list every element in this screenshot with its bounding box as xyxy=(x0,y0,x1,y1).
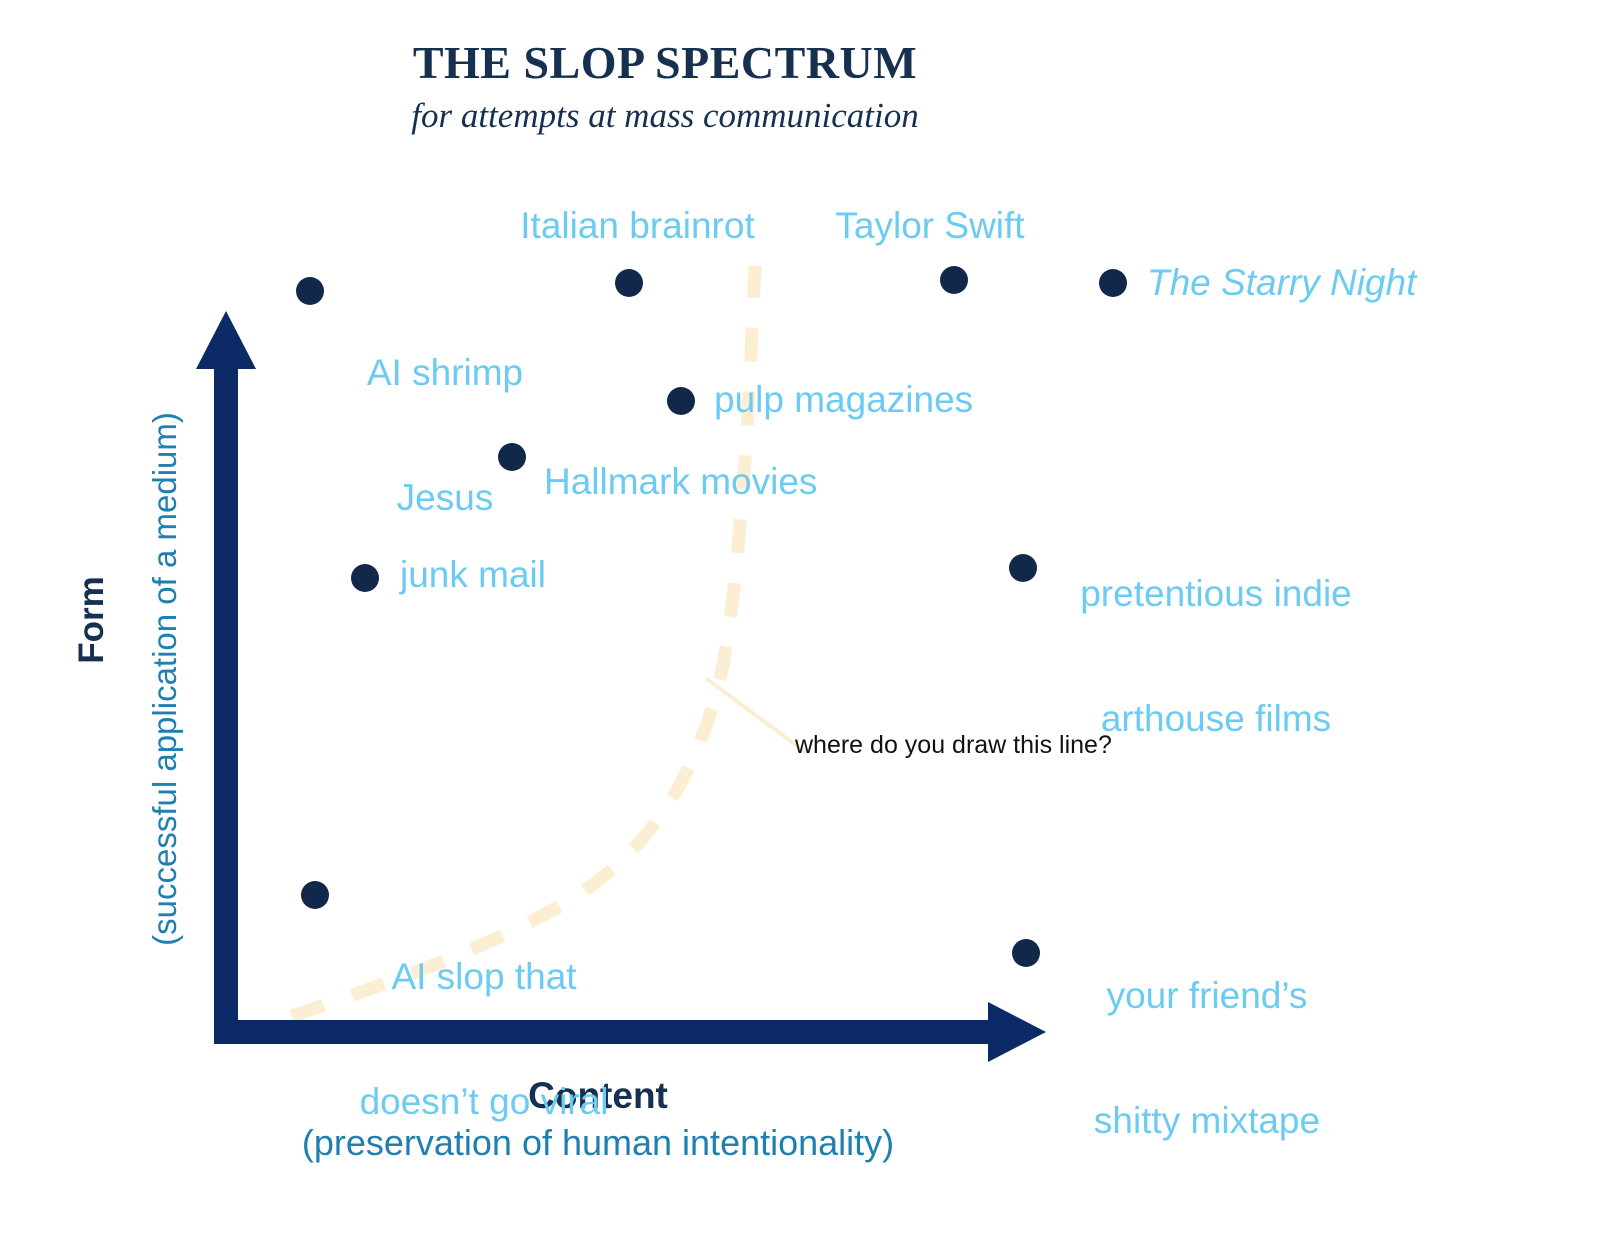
chart-subtitle: for attempts at mass communication xyxy=(0,96,1330,136)
data-point-pretentious-indie-arthouse-films[interactable] xyxy=(1009,554,1037,582)
data-point-the-starry-night[interactable] xyxy=(1099,269,1127,297)
data-point-italian-brainrot[interactable] xyxy=(615,269,643,297)
data-label-pretentious-indie-arthouse-films: pretentious indie arthouse films xyxy=(1046,489,1386,823)
data-label-line: your friend’s xyxy=(1062,975,1352,1017)
y-axis-title: Form xyxy=(72,520,112,720)
data-point-friends-shitty-mixtape[interactable] xyxy=(1012,939,1040,967)
data-point-ai-shrimp-jesus[interactable] xyxy=(296,277,324,305)
data-label-the-starry-night: The Starry Night xyxy=(1147,262,1416,304)
data-label-line: AI slop that xyxy=(324,956,644,998)
data-label-line: shitty mixtape xyxy=(1062,1100,1352,1142)
data-label-ai-shrimp-jesus: AI shrimp Jesus xyxy=(340,268,550,602)
annotation-leader-line xyxy=(707,679,808,754)
data-label-line: pretentious indie xyxy=(1046,573,1386,615)
data-label-line: Jesus xyxy=(340,477,550,519)
data-label-line: AI shrimp xyxy=(340,352,550,394)
data-label-friends-shitty-mixtape: your friend’s shitty mixtape xyxy=(1062,891,1352,1225)
data-point-pulp-magazines[interactable] xyxy=(667,387,695,415)
y-axis-arrow xyxy=(196,311,256,1040)
data-label-junk-mail: junk mail xyxy=(400,554,546,596)
data-label-ai-slop-not-viral: AI slop that doesn’t go viral xyxy=(324,872,644,1206)
chart-canvas: THE SLOP SPECTRUM for attempts at mass c… xyxy=(0,0,1612,1252)
data-label-taylor-swift: Taylor Swift xyxy=(800,205,1060,247)
data-label-line: doesn’t go viral xyxy=(324,1081,644,1123)
page-title: THE SLOP SPECTRUM xyxy=(0,36,1330,89)
data-point-taylor-swift[interactable] xyxy=(940,266,968,294)
data-label-italian-brainrot: Italian brainrot xyxy=(470,205,805,247)
annotation-where-do-you-draw-this-line: where do you draw this line? xyxy=(795,731,1112,760)
y-axis-sublabel: (successful application of a medium) xyxy=(146,329,184,1029)
data-label-pulp-magazines: pulp magazines xyxy=(714,379,973,421)
data-label-hallmark-movies: Hallmark movies xyxy=(544,461,817,503)
